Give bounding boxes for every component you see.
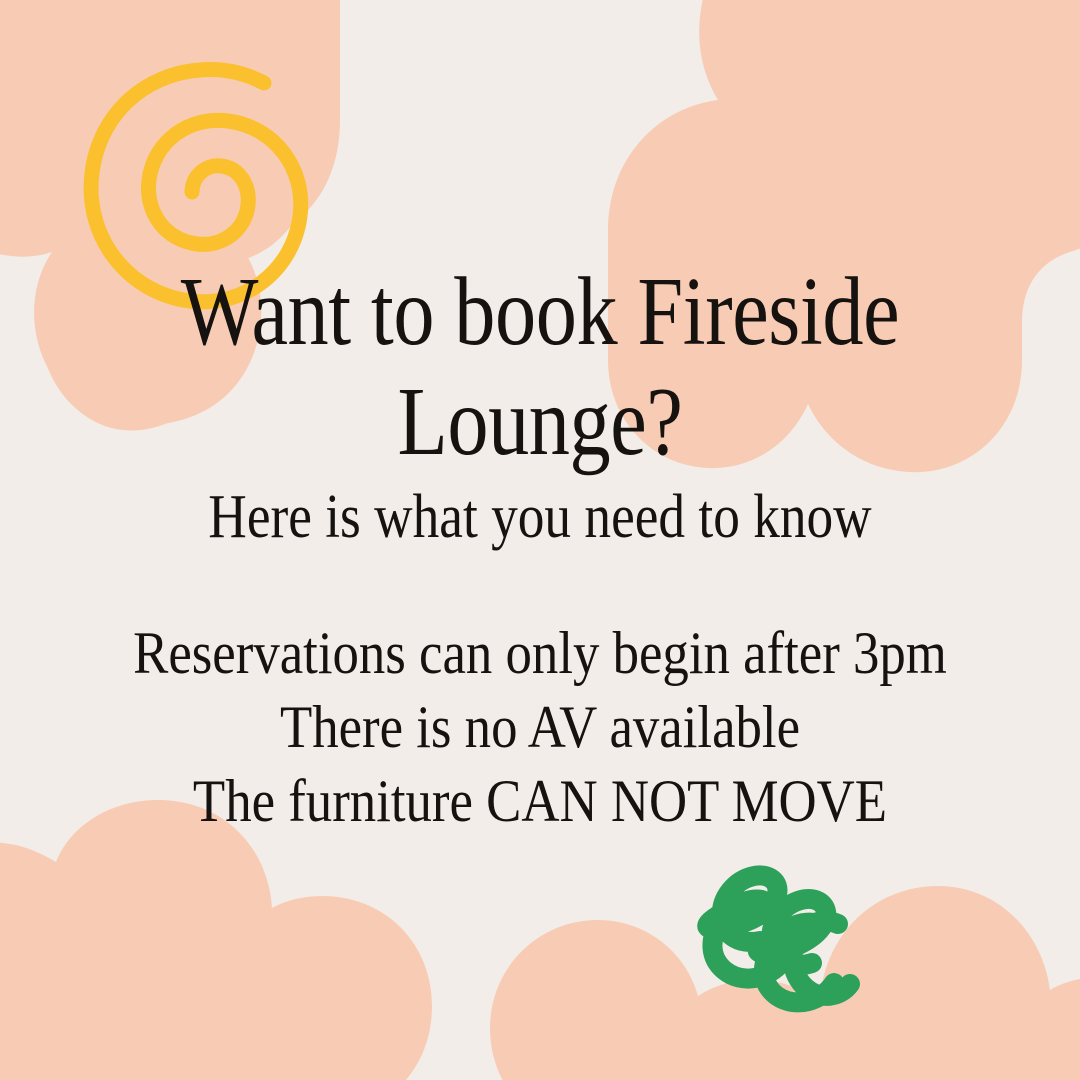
info-list: Reservations can only begin after 3pm Th…	[35, 616, 1045, 839]
info-line: There is no AV available	[96, 690, 985, 764]
poster-canvas: Want to book Fireside Lounge? Here is wh…	[0, 0, 1080, 1080]
page-title: Want to book Fireside Lounge?	[179, 258, 901, 478]
poster-content: Want to book Fireside Lounge? Here is wh…	[0, 0, 1080, 1080]
page-subtitle: Here is what you need to know	[153, 486, 927, 548]
info-line: The furniture CAN NOT MOVE	[96, 764, 985, 838]
info-line: Reservations can only begin after 3pm	[96, 616, 985, 690]
